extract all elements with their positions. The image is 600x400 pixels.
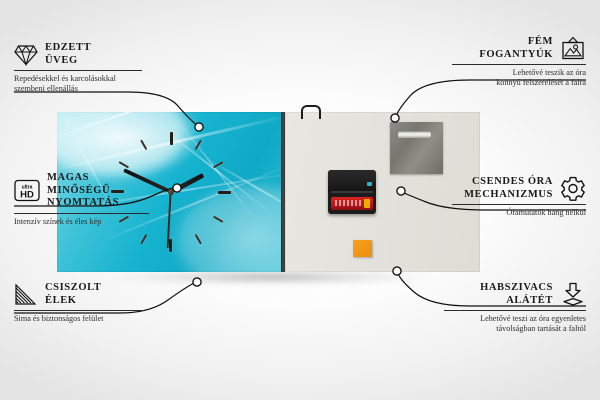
callout-foam-pad: HABSZIVACS ALÁTÉT Lehetővé teszi az óra … (444, 282, 586, 334)
callout-divider (14, 310, 142, 311)
infographic-canvas: EDZETT ÜVEG Repedésekkel és karcolásokka… (0, 0, 600, 400)
callout-header: CSENDES ÓRA MECHANIZMUS (452, 176, 586, 201)
diamond-icon (14, 44, 38, 66)
aa-battery (331, 197, 373, 210)
clock-back-panel (285, 112, 480, 272)
callout-desc-line1: Óramutatók hang nélkül (452, 208, 586, 218)
callout-divider (452, 204, 586, 205)
callout-desc-line2: távolságban tartását a faltól (444, 324, 586, 334)
quartz-clock-mechanism (328, 170, 376, 214)
mechanism-body (328, 170, 376, 192)
callout-header: FÉM FOGANTYÚK (452, 36, 586, 61)
callout-desc-line1: Lehetővé teszi az óra egyenletes (444, 314, 586, 324)
battery-plus-terminal (364, 199, 370, 208)
callout-divider (444, 310, 586, 311)
hour-tick-3 (171, 191, 231, 193)
callout-desc-line1: Intenzív színek és éles kép (14, 217, 149, 227)
callout-divider (14, 70, 142, 71)
callout-tempered-glass: EDZETT ÜVEG Repedésekkel és karcolásokka… (14, 42, 142, 94)
callout-metal-handles: FÉM FOGANTYÚK Lehetővé teszik az óra kön… (452, 36, 586, 88)
callout-high-quality-print: ultra HD MAGAS MINŐSÉGŰ NYOMTATÁS Intenz… (14, 172, 149, 227)
foam-spacer-pad (353, 240, 372, 257)
hour-tick-12 (170, 132, 172, 192)
callout-desc-line1: Repedésekkel és karcolásokkal (14, 74, 142, 84)
foam-pad-icon (560, 282, 586, 307)
callout-divider (452, 64, 586, 65)
callout-title: EDZETT ÜVEG (45, 42, 91, 67)
polished-edge-icon (14, 284, 38, 306)
callout-header: ultra HD MAGAS MINŐSÉGŰ NYOMTATÁS (14, 172, 149, 210)
clock-hub (168, 189, 174, 195)
gear-icon (560, 176, 586, 201)
callout-desc-line2: szembeni ellenállás (14, 84, 142, 94)
metal-hanger-bracket (390, 122, 443, 174)
picture-hanger-icon (560, 36, 586, 61)
mechanism-label (367, 182, 372, 186)
callout-title: HABSZIVACS ALÁTÉT (480, 282, 553, 307)
battery-label (335, 200, 361, 206)
mechanism-hanger-loop (301, 105, 321, 119)
callout-header: CSISZOLT ÉLEK (14, 282, 142, 307)
callout-divider (14, 213, 149, 214)
callout-title: CSENDES ÓRA MECHANIZMUS (464, 176, 553, 201)
callout-desc-line1: Sima és biztonságos felület (14, 314, 142, 324)
callout-header: HABSZIVACS ALÁTÉT (444, 282, 586, 307)
callout-title: CSISZOLT ÉLEK (45, 282, 101, 307)
svg-text:HD: HD (20, 190, 34, 201)
callout-desc-line2: könnyű felszerelését a falra (452, 78, 586, 88)
callout-polished-edges: CSISZOLT ÉLEK Sima és biztonságos felüle… (14, 282, 142, 324)
mechanism-seam (331, 191, 373, 193)
ultra-hd-icon: ultra HD (14, 179, 40, 202)
callout-title: FÉM FOGANTYÚK (479, 36, 553, 61)
callout-header: EDZETT ÜVEG (14, 42, 142, 67)
callout-silent-mechanism: CSENDES ÓRA MECHANIZMUS Óramutatók hang … (452, 176, 586, 218)
callout-title: MAGAS MINŐSÉGŰ NYOMTATÁS (47, 172, 149, 210)
hanger-slot (398, 131, 431, 138)
callout-desc-line1: Lehetővé teszik az óra (452, 68, 586, 78)
